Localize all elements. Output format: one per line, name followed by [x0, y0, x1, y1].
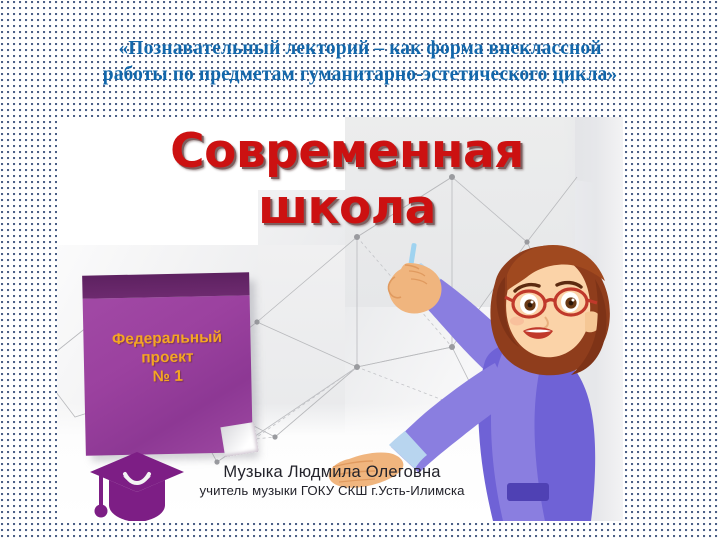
page-title-line-1: «Познавательный лекторий – как форма вне…: [0, 36, 720, 62]
caption-role: учитель музыки ГОКУ СКШ г.Усть-Илимска: [167, 482, 497, 499]
raised-hand: [388, 263, 441, 314]
note-text-line-3: № 1: [84, 365, 251, 387]
slide-heading: Современная школа: [137, 124, 557, 236]
page-title: «Познавательный лекторий – как форма вне…: [0, 36, 720, 88]
note-corner-curl: [220, 422, 258, 457]
purple-note: Федеральный проект № 1: [82, 272, 253, 455]
page-title-line-2: работы по предметам гуманитарно-эстетиче…: [0, 62, 720, 88]
slide-image: Федеральный проект № 1 Современная школа: [57, 117, 623, 521]
caption-name: Музыка Людмила Олеговна: [167, 462, 497, 482]
note-text: Федеральный проект № 1: [83, 327, 251, 387]
image-caption: Музыка Людмила Олеговна учитель музыки Г…: [167, 462, 497, 499]
slide-heading-line-1: Современная: [137, 124, 557, 180]
note-top-band: [82, 272, 249, 298]
